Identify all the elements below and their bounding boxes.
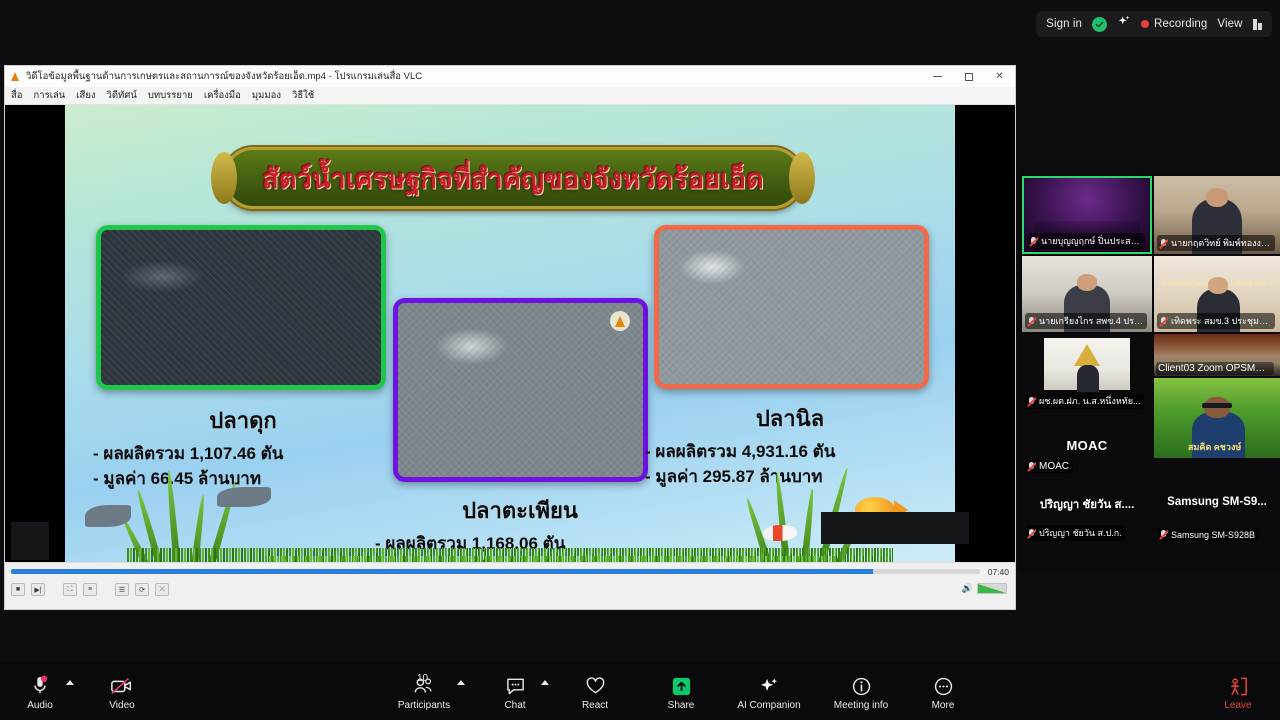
vlc-window-title: วิดีโอข้อมูลพื้นฐานด้านการเกษตรและสถานกา… — [26, 69, 422, 84]
speaker-icon[interactable]: 🔊 — [962, 583, 973, 594]
letterbox-left — [5, 105, 67, 562]
chat-group: Chat — [483, 671, 549, 711]
participant-video — [1044, 338, 1130, 390]
microphone-muted-icon — [1029, 236, 1038, 247]
exit-door-icon — [1227, 675, 1249, 697]
participant-name: นายบุญญฤกษ์ ปิ่นประสงค์... — [1041, 234, 1141, 248]
participant-name-badge: สมคิด คชวงษ์ — [1186, 439, 1245, 455]
video-button[interactable]: Video — [90, 671, 154, 711]
participant-name: Samsung SM-S928B — [1171, 530, 1255, 540]
participant-name-badge: เทิดพระ สมข.3 ประชุมผา... — [1157, 313, 1275, 329]
seek-bar[interactable] — [11, 569, 980, 574]
tilapia-production: - ผลผลิตรวม 4,931.16 ตัน — [645, 440, 935, 465]
chat-button[interactable]: Chat — [483, 671, 547, 711]
stop-icon[interactable]: ■ — [11, 583, 25, 596]
participant-display-name: ปริญญา ชัยวัน ส.... — [1022, 496, 1152, 514]
menu-item-media[interactable]: สื่อ — [11, 88, 23, 103]
microphone-muted-icon — [1159, 529, 1168, 540]
volume-control[interactable]: 🔊 — [962, 583, 1007, 594]
slide-title-banner: สัตว์น้ำเศรษฐกิจที่สำคัญของจังหวัดร้อยเอ… — [223, 147, 803, 209]
seek-progress — [11, 569, 873, 574]
water-plant-left — [143, 462, 263, 562]
next-icon[interactable]: ▶| — [31, 583, 45, 596]
menu-item-subtitle[interactable]: บทบรรยาย — [148, 88, 193, 103]
menu-item-video[interactable]: วิดีทัศน์ — [107, 88, 137, 103]
close-button[interactable]: ✕ — [984, 66, 1015, 87]
chat-label: Chat — [504, 700, 525, 711]
meeting-info-label: Meeting info — [834, 700, 888, 711]
microphone-muted-icon — [1027, 316, 1036, 327]
participant-tile[interactable]: ปริญญา ชัยวัน ส.... ปริญญา ชัยวัน ส.ป.ก. — [1022, 482, 1152, 544]
share-screen-icon — [671, 675, 692, 697]
chat-bubble-icon — [505, 675, 526, 697]
audio-button[interactable]: Audio — [8, 671, 72, 711]
share-label: Share — [668, 700, 695, 711]
zoom-top-bar: Sign in Recording View — [1036, 11, 1272, 37]
eyeglasses-icon — [1202, 403, 1232, 408]
participant-tile[interactable]: นายเกรียงไกร สพข.4 ประ... — [1022, 256, 1152, 332]
participant-initials: MOAC — [1067, 438, 1108, 453]
participant-name: Client03 Zoom OPSMOAC — [1158, 363, 1270, 374]
participant-name: นายกฤตวิทย์ พิมพ์ทองงา... — [1171, 236, 1271, 250]
menu-item-tools[interactable]: เครื่องมือ — [204, 88, 241, 103]
loop-icon[interactable]: ⟳ — [135, 583, 149, 596]
barb-fish-name: ปลาตะเพียน — [375, 493, 665, 528]
participant-name-badge: นายเกรียงไกร สพข.4 ประ... — [1025, 313, 1147, 329]
slide-title: สัตว์น้ำเศรษฐกิจที่สำคัญของจังหวัดร้อยเอ… — [262, 157, 764, 200]
barb-fish-photo — [393, 298, 648, 482]
microphone-muted-icon — [31, 675, 49, 697]
overlay-block-left — [11, 522, 49, 560]
video-label: Video — [109, 700, 134, 711]
ai-sparkle-icon[interactable] — [1117, 15, 1131, 34]
participant-name-badge: ปริญญา ชัยวัน ส.ป.ก. — [1025, 525, 1126, 541]
participant-tile[interactable]: นายบุญญฤกษ์ ปิ่นประสงค์... — [1022, 176, 1152, 254]
microphone-muted-icon — [1027, 461, 1036, 472]
seek-row: 07:40 — [5, 567, 1015, 576]
random-icon[interactable]: ⤫ — [155, 583, 169, 596]
barb-fish-image — [398, 303, 643, 477]
koi-fish-decoration — [763, 525, 797, 541]
participant-name: ผช.ผต.ฝภ. น.ส.หนึ่งหทัย... — [1039, 394, 1140, 408]
meeting-info-button[interactable]: Meeting info — [819, 671, 903, 711]
participant-name: เทิดพระ สมข.3 ประชุมผา... — [1171, 314, 1271, 328]
leave-label: Leave — [1224, 700, 1251, 711]
fish-silhouette-left-2 — [217, 487, 271, 507]
fish-silhouette-left — [85, 505, 131, 527]
menu-item-audio[interactable]: เสียง — [76, 88, 95, 103]
ai-companion-button[interactable]: AI Companion — [727, 671, 811, 711]
letterbox-right — [953, 105, 1015, 562]
participant-name-badge: นายกฤตวิทย์ พิมพ์ทองงา... — [1157, 235, 1275, 251]
sign-in-button[interactable]: Sign in — [1046, 18, 1082, 30]
catfish-name: ปลาดุก — [93, 403, 393, 438]
participant-name-badge: MOAC — [1025, 460, 1073, 473]
presentation-slide: สัตว์น้ำเศรษฐกิจที่สำคัญของจังหวัดร้อยเอ… — [65, 105, 955, 562]
tilapia-photo — [654, 225, 929, 389]
participants-rail: นายบุญญฤกษ์ ปิ่นประสงค์... นายกฤตวิทย์ พ… — [1018, 172, 1280, 572]
video-group: Video — [90, 671, 154, 711]
ai-sparkle-icon — [759, 675, 780, 697]
participant-display-name: Samsung SM-S9... — [1154, 496, 1280, 508]
more-label: More — [932, 700, 955, 711]
playback-buttons: ■ ▶| ⛶ ≡ ☰ ⟳ ⤫ — [11, 583, 169, 596]
recording-indicator[interactable]: Recording — [1141, 18, 1207, 30]
participants-group: 10 Participants — [385, 671, 465, 711]
info-circle-icon — [851, 675, 872, 697]
more-button[interactable]: More — [911, 671, 975, 711]
microphone-muted-icon — [1159, 238, 1168, 249]
participants-label: Participants — [398, 700, 450, 711]
participant-name-badge: Client03 Zoom OPSMOAC — [1156, 362, 1274, 375]
ellipsis-icon — [933, 675, 954, 697]
microphone-muted-icon — [1159, 316, 1168, 327]
playlist-icon[interactable]: ☰ — [115, 583, 129, 596]
texture-overlay — [659, 230, 924, 384]
minimize-button[interactable] — [922, 66, 953, 87]
vlc-watermark-icon — [610, 311, 630, 331]
participant-name: ปริญญา ชัยวัน ส.ป.ก. — [1039, 526, 1122, 540]
recording-dot-icon — [1141, 20, 1149, 28]
shield-check-icon[interactable] — [1092, 17, 1107, 32]
elapsed-time: 07:40 — [988, 567, 1009, 577]
window-controls: ✕ — [922, 66, 1015, 87]
recording-label: Recording — [1154, 18, 1207, 30]
ai-companion-label: AI Companion — [737, 700, 800, 711]
vlc-menu-bar: สื่อ การเล่น เสียง วิดีทัศน์ บทบรรยาย เค… — [5, 87, 1015, 105]
zoom-bottom-toolbar: Audio Video — [0, 662, 1280, 720]
vlc-cone-icon — [10, 71, 21, 82]
vlc-media-player-window: วิดีโอข้อมูลพื้นฐานด้านการเกษตรและสถานกา… — [4, 65, 1016, 610]
zoom-meeting-window: Sign in Recording View วิดีโอข้อมูลพื้นฐ… — [0, 0, 1280, 720]
participant-name-badge: ผช.ผต.ฝภ. น.ส.หนึ่งหทัย... — [1025, 393, 1144, 409]
volume-slider[interactable] — [977, 583, 1007, 594]
leave-button[interactable]: Leave — [1206, 671, 1270, 711]
heart-icon — [585, 675, 606, 697]
layout-grid-icon[interactable] — [1253, 19, 1263, 30]
participant-tile[interactable]: นายกฤตวิทย์ พิมพ์ทองงา... — [1154, 176, 1280, 254]
participants-count: 10 — [417, 673, 428, 684]
tilapia-image — [659, 230, 924, 384]
fullscreen-icon[interactable]: ⛶ — [63, 583, 77, 596]
participants-button[interactable]: 10 Participants — [385, 671, 463, 711]
vlc-title-bar[interactable]: วิดีโอข้อมูลพื้นฐานด้านการเกษตรและสถานกา… — [5, 66, 1015, 87]
video-canvas[interactable]: สัตว์น้ำเศรษฐกิจที่สำคัญของจังหวัดร้อยเอ… — [5, 105, 1015, 562]
react-label: React — [582, 700, 608, 711]
share-button[interactable]: Share — [649, 671, 713, 711]
participant-name-badge: Samsung SM-S928B — [1157, 528, 1259, 541]
participant-tile[interactable]: Client03 Zoom OPSMOAC — [1154, 334, 1280, 376]
audio-group: Audio — [8, 671, 74, 711]
overlay-block-right — [821, 512, 969, 544]
participant-tile[interactable]: ผช.ผต.ฝภ. น.ส.หนึ่งหทัย... — [1022, 334, 1152, 412]
royal-crest-icon — [1074, 344, 1100, 366]
catfish-image — [101, 230, 381, 385]
participant-name: นายเกรียงไกร สพข.4 ประ... — [1039, 314, 1143, 328]
settings-icon[interactable]: ≡ — [83, 583, 97, 596]
maximize-button[interactable] — [953, 66, 984, 87]
menu-item-playback[interactable]: การเล่น — [34, 88, 66, 103]
microphone-muted-icon — [1027, 528, 1036, 539]
vlc-control-bar: 07:40 ■ ▶| ⛶ ≡ ☰ ⟳ ⤫ 🔊 — [5, 562, 1015, 609]
tilapia-name: ปลานิล — [645, 401, 935, 436]
participant-name: สมคิด คชวงษ์ — [1188, 440, 1241, 454]
audio-label: Audio — [27, 700, 53, 711]
menu-item-view[interactable]: มุมมอง — [252, 88, 281, 103]
participant-tile[interactable]: MOAC MOAC — [1022, 414, 1152, 476]
participant-tile[interactable]: กรมหม่อนไหมเฉลิมพระเกียรติ เขต 3 เทิดพระ… — [1154, 256, 1280, 332]
texture-overlay — [101, 230, 381, 385]
camera-off-icon — [110, 675, 134, 697]
menu-item-help[interactable]: วิธีใช้ — [292, 88, 314, 103]
participant-tile[interactable]: Samsung SM-S9... Samsung SM-S928B — [1154, 482, 1280, 544]
catfish-photo — [96, 225, 386, 390]
microphone-muted-icon — [1027, 396, 1036, 407]
participant-name: MOAC — [1039, 461, 1069, 472]
view-button[interactable]: View — [1217, 18, 1242, 30]
participant-name-badge: นายบุญญฤกษ์ ปิ่นประสงค์... — [1027, 233, 1145, 249]
react-button[interactable]: React — [563, 671, 627, 711]
texture-overlay — [398, 303, 643, 477]
participant-tile[interactable]: สมคิด คชวงษ์ — [1154, 378, 1280, 458]
